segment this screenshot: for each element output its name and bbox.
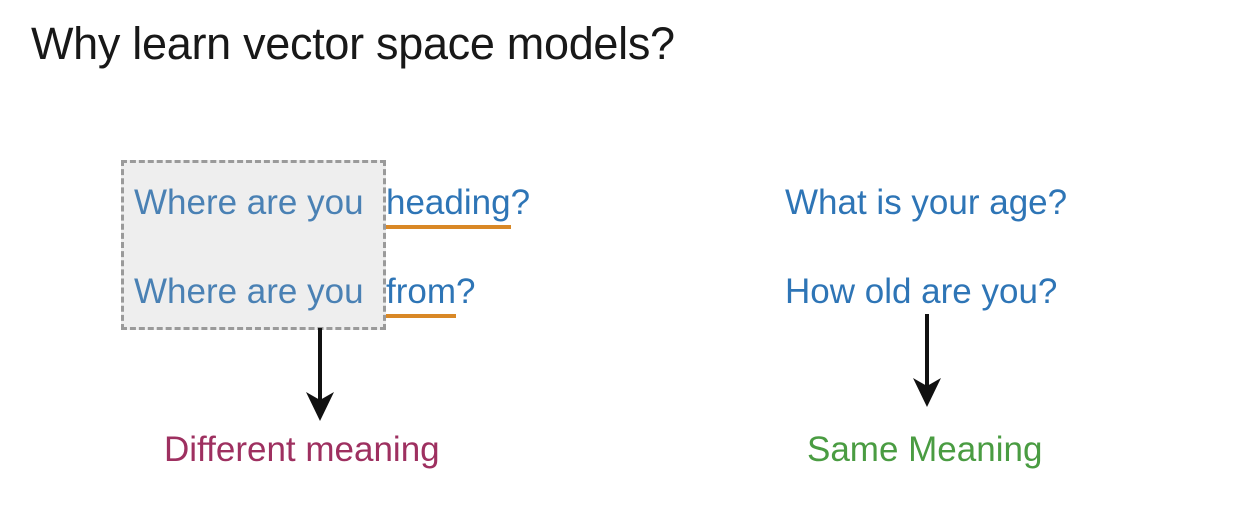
- shared-prefix-text: Where are you: [134, 274, 386, 309]
- sentence-row: What is your age?: [785, 185, 1067, 220]
- slide-canvas: Why learn vector space models? Where are…: [0, 0, 1236, 505]
- same-meaning-label: Same Meaning: [807, 432, 1042, 467]
- different-meaning-label: Different meaning: [164, 432, 440, 467]
- down-arrow-icon: [296, 328, 344, 424]
- left-example-group: Where are youheading? Where are youfrom?…: [0, 0, 620, 505]
- sentence-row: Where are youheading?: [134, 185, 530, 222]
- shared-prefix-text: Where are you: [134, 185, 386, 220]
- differing-word-core: heading: [386, 185, 511, 220]
- sentence-row: How old are you?: [785, 274, 1057, 309]
- down-arrow-icon: [903, 314, 951, 410]
- question-mark: ?: [456, 274, 475, 309]
- differing-word-heading: heading?: [386, 185, 530, 222]
- sentence-row: Where are youfrom?: [134, 274, 475, 311]
- differing-word-core: from: [386, 274, 456, 309]
- question-mark: ?: [511, 185, 530, 220]
- differing-word-from: from?: [386, 274, 475, 311]
